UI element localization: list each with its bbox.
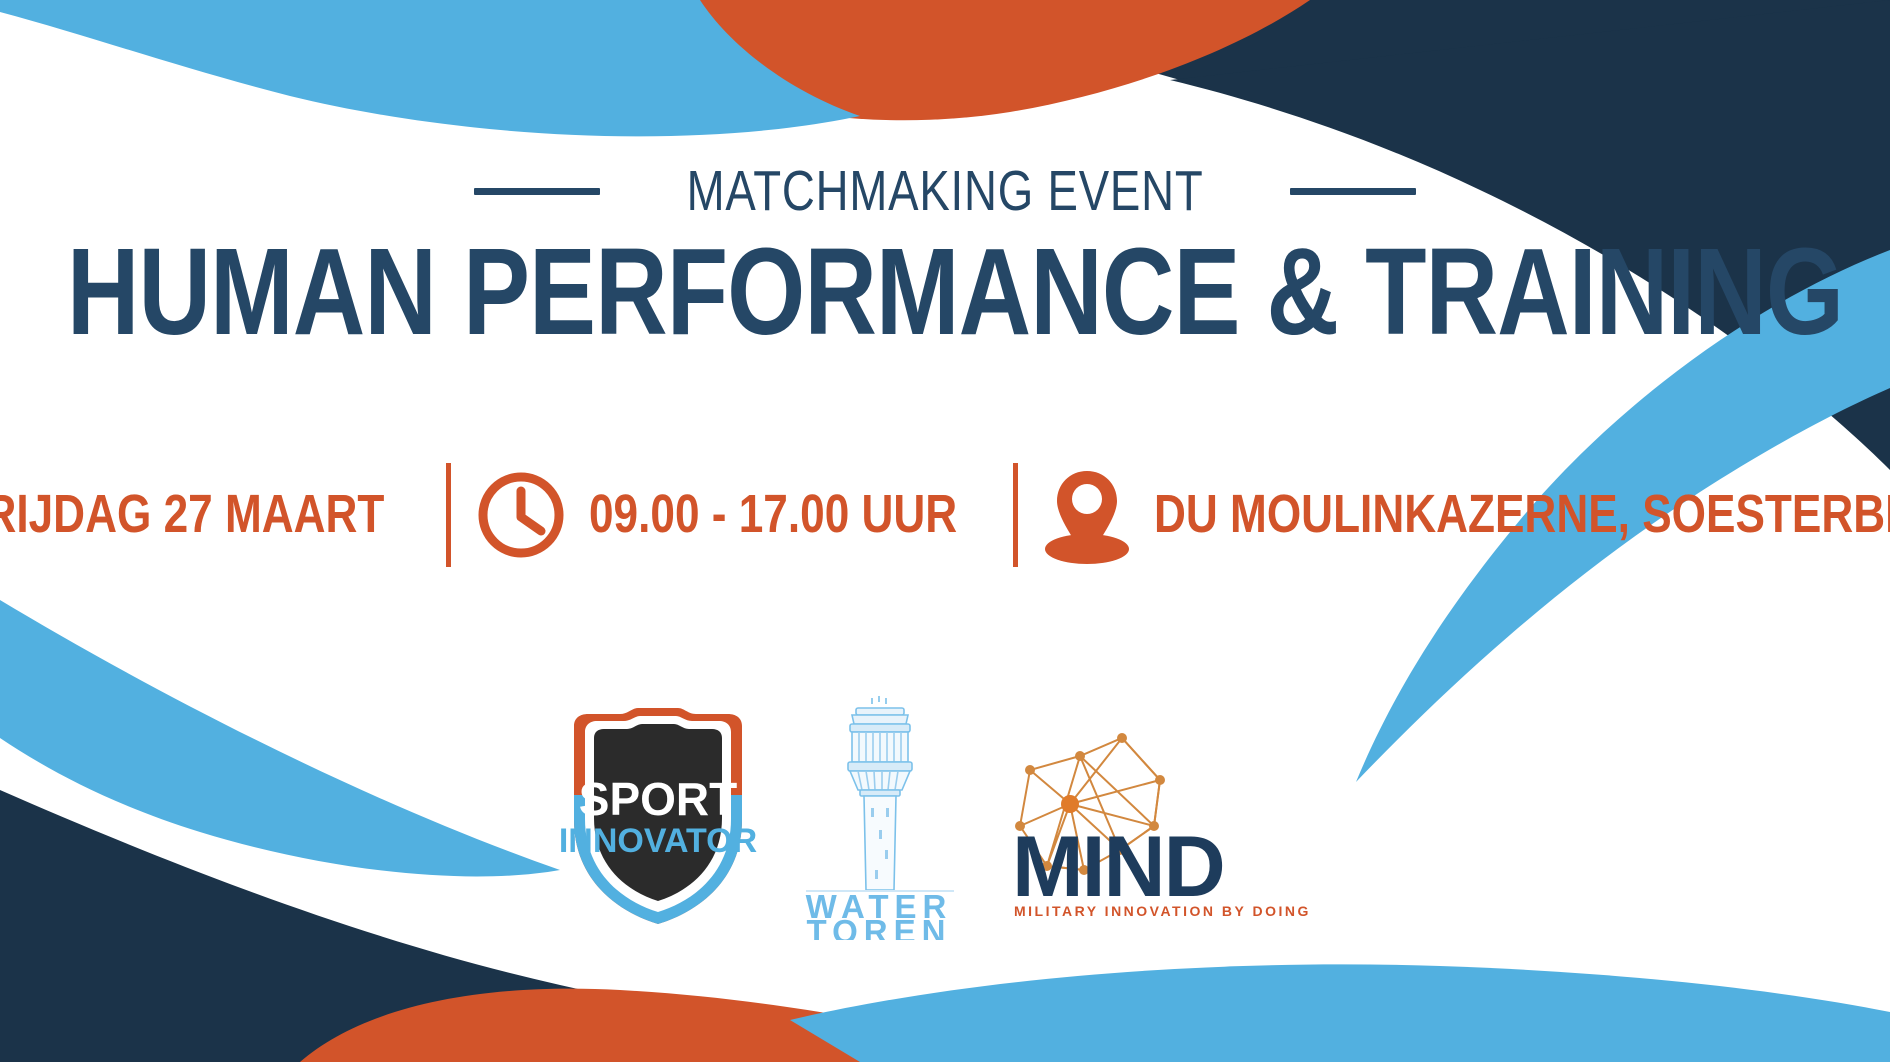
event-location: DU MOULINKAZERNE, SOESTERBERG (1042, 455, 1890, 575)
sport-innovator-shield-icon: SPORT INNOVATOR (558, 700, 758, 930)
logo-sport-innovator: SPORT INNOVATOR (558, 700, 758, 930)
page-title-text: HUMAN PERFORMANCE & TRAINING (67, 230, 1843, 353)
info-divider-1 (446, 463, 451, 567)
logo-watertoren: WATER TOREN (784, 690, 974, 940)
eyebrow-row: MATCHMAKING EVENT (0, 163, 1890, 220)
sport-innovator-line2: INNOVATOR (559, 822, 757, 860)
event-info-row: VRIJDAG 27 MAART 09.00 - 17.00 UUR DU MO… (0, 455, 1890, 575)
mind-network-icon: MIND MILITARY INNOVATION BY DOING (1002, 708, 1332, 923)
event-time: 09.00 - 17.00 UUR (475, 455, 989, 575)
clock-icon (475, 469, 567, 561)
event-date: VRIJDAG 27 MAART (0, 455, 422, 575)
page-title: HUMAN PERFORMANCE & TRAINING (0, 238, 1890, 346)
event-poster: MATCHMAKING EVENT HUMAN PERFORMANCE & TR… (0, 0, 1890, 1062)
eyebrow-rule-right (1290, 188, 1416, 195)
eyebrow-rule-left (474, 188, 600, 195)
event-date-label: VRIJDAG 27 MAART (0, 488, 385, 542)
event-location-label: DU MOULINKAZERNE, SOESTERBERG (1154, 488, 1890, 542)
map-pin-icon (1042, 465, 1132, 565)
sport-innovator-line1: SPORT (579, 773, 737, 825)
logo-mind: MIND MILITARY INNOVATION BY DOING (1002, 708, 1332, 923)
info-divider-2 (1013, 463, 1018, 567)
watertoren-line2: TOREN (807, 913, 952, 940)
mind-wordmark: MIND (1012, 819, 1224, 915)
mind-tagline: MILITARY INNOVATION BY DOING (1014, 903, 1311, 919)
watertoren-tower-icon: WATER TOREN (784, 690, 974, 940)
partner-logos: SPORT INNOVATOR (0, 620, 1890, 1010)
event-time-label: 09.00 - 17.00 UUR (589, 488, 957, 542)
eyebrow-label: MATCHMAKING EVENT (687, 163, 1204, 220)
